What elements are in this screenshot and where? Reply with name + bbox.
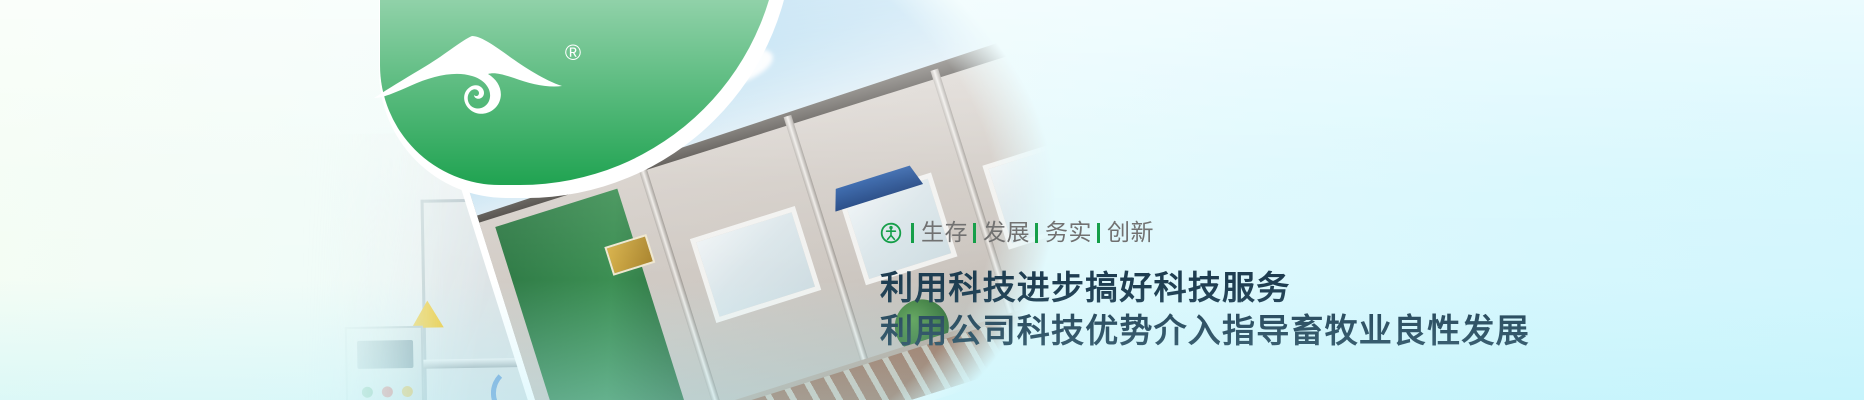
- tagline-separator: [973, 223, 976, 243]
- machine-control-panel: [345, 326, 425, 400]
- tagline-separator: [1097, 223, 1100, 243]
- headline-line-2: 利用公司科技优势介入指导畜牧业良性发展: [880, 309, 1640, 352]
- tagline-separator: [1035, 223, 1038, 243]
- banner-text-block: 生存 发展 务实 创新 利用科技进步搞好科技服务 利用公司科技优势介入指导畜牧业…: [880, 218, 1640, 352]
- machine-button-yellow: [402, 386, 413, 397]
- registered-trademark-symbol: ®: [560, 40, 586, 66]
- warning-triangle-icon: [411, 300, 443, 328]
- tagline-word-2: 发展: [983, 222, 1030, 245]
- machine-display: [357, 340, 413, 369]
- tagline: 生存 发展 务实 创新: [880, 218, 1640, 248]
- tagline-word-1: 生存: [921, 222, 968, 245]
- tagline-separator: [911, 223, 914, 243]
- company-banner: ® 生存 发展 务实 创新 利用科技进步搞好科技服务 利用公司科技优势介入指导畜…: [0, 0, 1864, 400]
- tagline-word-3: 务实: [1045, 222, 1092, 245]
- machine-button-red: [382, 386, 393, 397]
- green-circle-figure-icon: [880, 222, 902, 244]
- machine-button-green: [362, 387, 373, 398]
- headline-line-1: 利用科技进步搞好科技服务: [880, 266, 1640, 309]
- tagline-word-4: 创新: [1107, 222, 1154, 245]
- wave-mountain-logo: [372, 30, 572, 120]
